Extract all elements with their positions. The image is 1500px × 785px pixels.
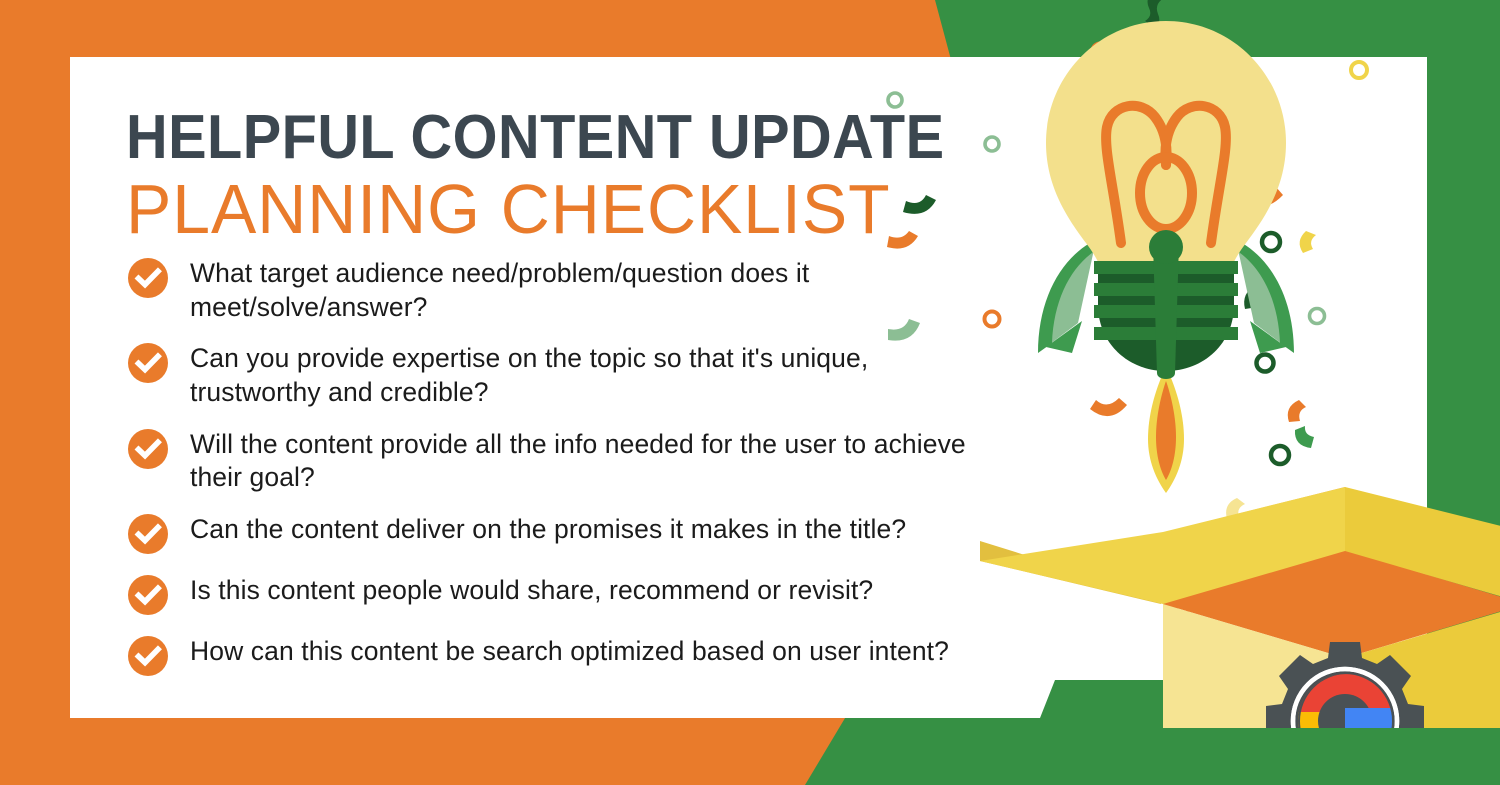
check-circle-icon <box>128 575 168 615</box>
checklist-item-label: What target audience need/problem/questi… <box>190 257 980 324</box>
checklist-item[interactable]: How can this content be search optimized… <box>128 635 1008 676</box>
page-title: HELPFUL CONTENT UPDATE PLANNING CHECKLIS… <box>126 107 1006 247</box>
check-circle-icon <box>128 514 168 554</box>
checklist-item[interactable]: Will the content provide all the info ne… <box>128 428 1008 495</box>
checklist: What target audience need/problem/questi… <box>128 257 1008 696</box>
content-card: HELPFUL CONTENT UPDATE PLANNING CHECKLIS… <box>70 57 1427 718</box>
check-circle-icon <box>128 258 168 298</box>
checklist-item-label: Can you provide expertise on the topic s… <box>190 342 980 409</box>
checklist-item-label: Is this content people would share, reco… <box>190 574 873 608</box>
check-circle-icon <box>128 429 168 469</box>
infographic-canvas: HELPFUL CONTENT UPDATE PLANNING CHECKLIS… <box>0 0 1500 785</box>
checklist-item[interactable]: Can the content deliver on the promises … <box>128 513 1008 554</box>
check-circle-icon <box>128 343 168 383</box>
checklist-item-label: How can this content be search optimized… <box>190 635 949 669</box>
checklist-item[interactable]: What target audience need/problem/questi… <box>128 257 1008 324</box>
check-circle-icon <box>128 636 168 676</box>
checklist-item[interactable]: Is this content people would share, reco… <box>128 574 1008 615</box>
title-line-secondary: PLANNING CHECKLIST <box>126 173 980 247</box>
checklist-item[interactable]: Can you provide expertise on the topic s… <box>128 342 1008 409</box>
title-line-primary: HELPFUL CONTENT UPDATE <box>126 107 945 169</box>
checklist-item-label: Can the content deliver on the promises … <box>190 513 906 547</box>
checklist-item-label: Will the content provide all the info ne… <box>190 428 980 495</box>
